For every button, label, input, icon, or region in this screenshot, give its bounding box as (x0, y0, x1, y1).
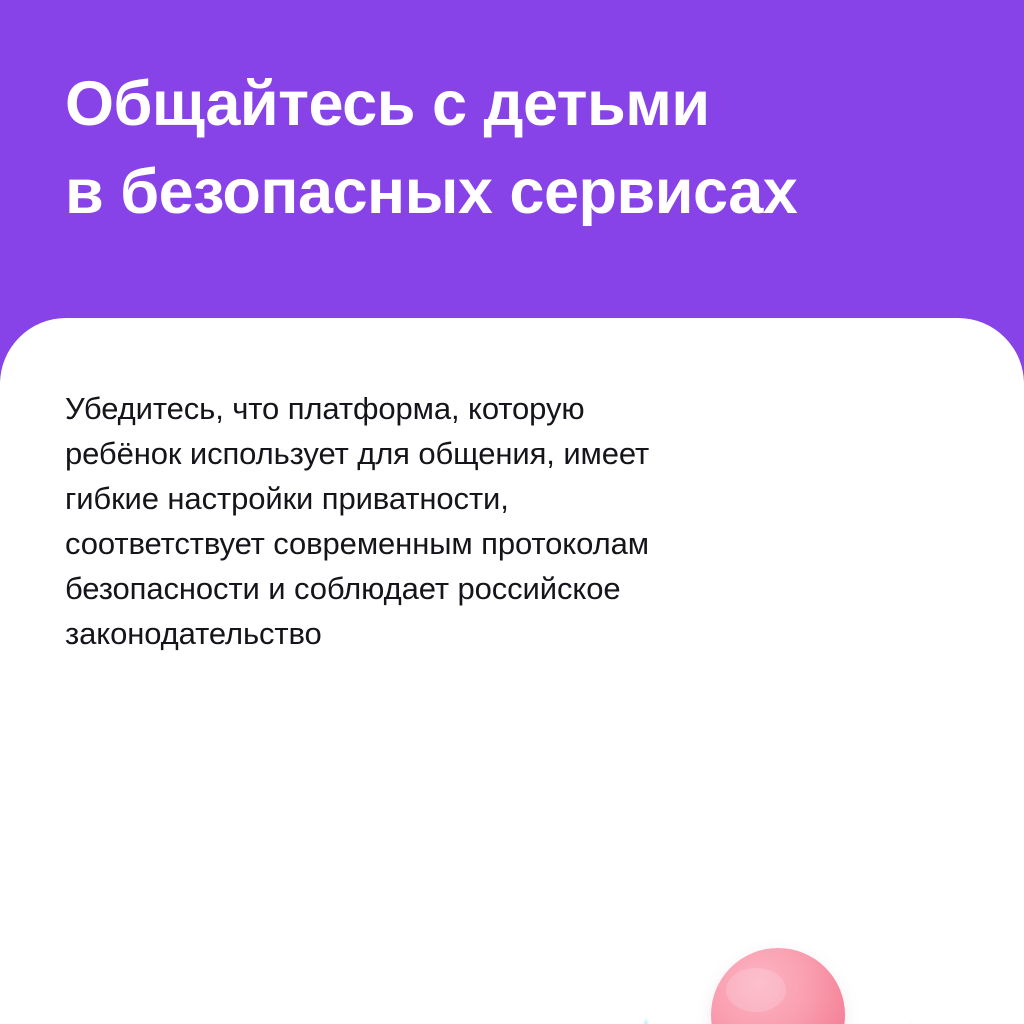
hero-heading-line-1: Общайтесь с детьми (65, 60, 965, 148)
body-paragraph-line-4: соответствует современным протоколам (65, 521, 745, 566)
body-paragraph-line-1: Убедитесь, что платформа, которую (65, 386, 745, 431)
body-paragraph: Убедитесь, что платформа, которую ребёно… (65, 386, 745, 656)
body-paragraph-line-3: гибкие настройки приватности, (65, 476, 745, 521)
body-paragraph-line-5: безопасности и соблюдает российское (65, 566, 745, 611)
body-paragraph-line-2: ребёнок использует для общения, имеет (65, 431, 745, 476)
body-paragraph-line-6: законодательство (65, 611, 745, 656)
slide-root: Общайтесь с детьми в безопасных сервисах… (0, 0, 1024, 1024)
illustration-person-with-verified-shield (600, 918, 1000, 1024)
sparkle-left-icon (620, 1018, 672, 1024)
hero-heading-line-2: в безопасных сервисах (65, 148, 965, 236)
content-card: Убедитесь, что платформа, которую ребёно… (0, 318, 1024, 1024)
person-head (711, 948, 845, 1024)
hero-heading: Общайтесь с детьми в безопасных сервисах (65, 60, 965, 236)
